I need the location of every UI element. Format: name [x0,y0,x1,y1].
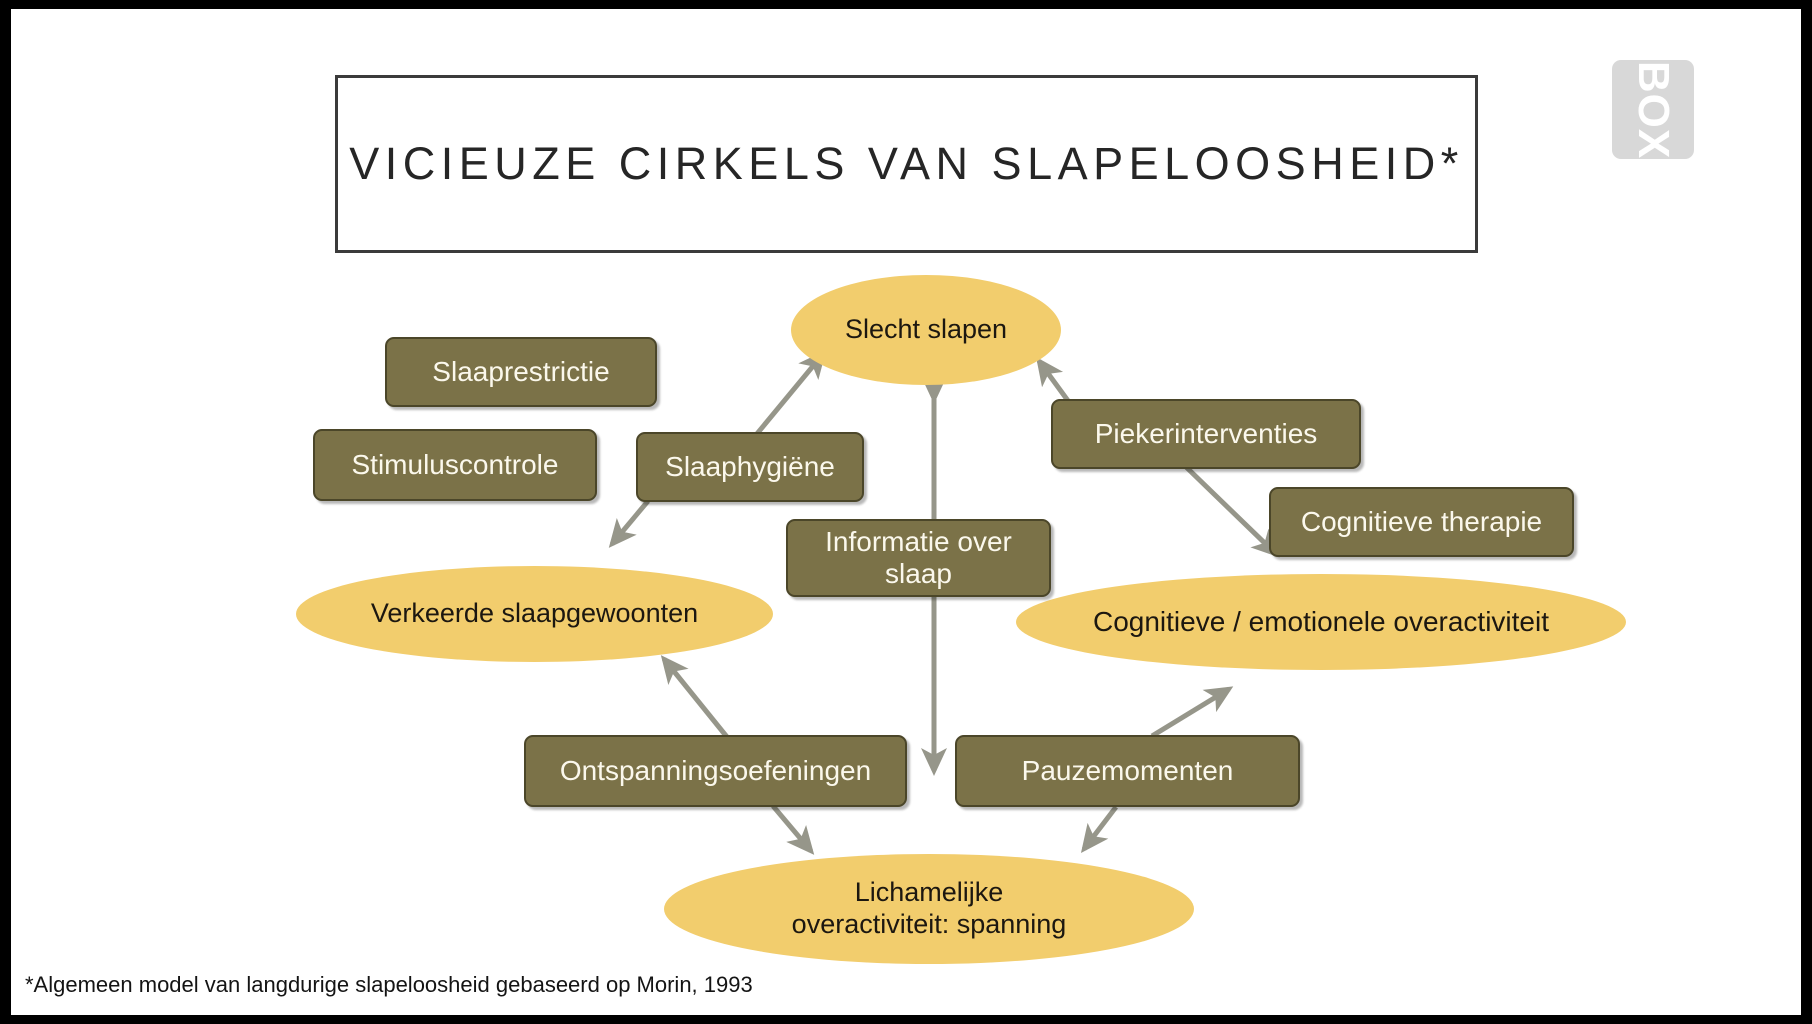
arrow-slaaphygiene-to-slecht-slapen [751,354,823,441]
node-slaaprestrictie[interactable]: Slaaprestrictie [385,337,657,407]
node-ontspanningsoefeningen-label: Ontspanningsoefeningen [560,755,871,787]
node-verkeerde-slaapgewoonten[interactable]: Verkeerde slaapgewoonten [296,566,773,662]
node-cognitieve-therapie-label: Cognitieve therapie [1301,506,1542,538]
footnote: *Algemeen model van langdurige slapeloos… [25,972,753,998]
arrow-slaaphygiene-to-verkeerde-slaapgewoonten [612,501,648,544]
node-informatie-over-slaap-label: Informatie over slaap [825,526,1012,590]
arrow-pauzemomenten-to-cognitieve-overactiviteit [1152,689,1229,736]
node-stimuluscontrole-label: Stimuluscontrole [352,449,559,481]
arrow-pauzemomenten-to-lichamelijke [1084,807,1116,849]
node-piekerinterventies[interactable]: Piekerinterventies [1051,399,1361,469]
node-lichamelijke-overactiviteit-label: Lichamelijke overactiviteit: spanning [792,877,1067,941]
arrow-ontspanning-to-verkeerde-slaapgewoonten [664,659,727,737]
node-pauzemomenten-label: Pauzemomenten [1022,755,1234,787]
node-slaaprestrictie-label: Slaaprestrictie [432,356,609,388]
node-informatie-line1: Informatie over [825,526,1012,557]
slide-canvas: VICIEUZE CIRKELS VAN SLAPELOOSHEID* BOX [11,9,1801,1015]
node-informatie-line2: slaap [885,558,952,589]
node-lichamelijke-overactiviteit[interactable]: Lichamelijke overactiviteit: spanning [664,854,1194,964]
node-ontspanningsoefeningen[interactable]: Ontspanningsoefeningen [524,735,907,807]
node-slaaphygiene-label: Slaaphygiëne [665,451,835,483]
node-cognitieve-emotionele-overactiviteit-label: Cognitieve / emotionele overactiviteit [1093,605,1549,638]
node-cognitieve-emotionele-overactiviteit[interactable]: Cognitieve / emotionele overactiviteit [1016,574,1626,670]
node-lichamelijke-line2: overactiviteit: spanning [792,909,1067,939]
node-slecht-slapen[interactable]: Slecht slapen [791,275,1061,385]
node-slecht-slapen-label: Slecht slapen [845,314,1007,346]
node-pauzemomenten[interactable]: Pauzemomenten [955,735,1300,807]
node-lichamelijke-line1: Lichamelijke [855,877,1004,907]
arrow-ontspanning-to-lichamelijke [773,806,811,851]
node-piekerinterventies-label: Piekerinterventies [1095,418,1318,450]
node-informatie-over-slaap[interactable]: Informatie over slaap [786,519,1051,597]
node-cognitieve-therapie[interactable]: Cognitieve therapie [1269,487,1574,557]
node-slaaphygiene[interactable]: Slaaphygiëne [636,432,864,502]
node-stimuluscontrole[interactable]: Stimuluscontrole [313,429,597,501]
arrow-piekerinterventies-to-cognitieve-therapie [1183,464,1276,554]
node-verkeerde-slaapgewoonten-label: Verkeerde slaapgewoonten [371,598,698,630]
